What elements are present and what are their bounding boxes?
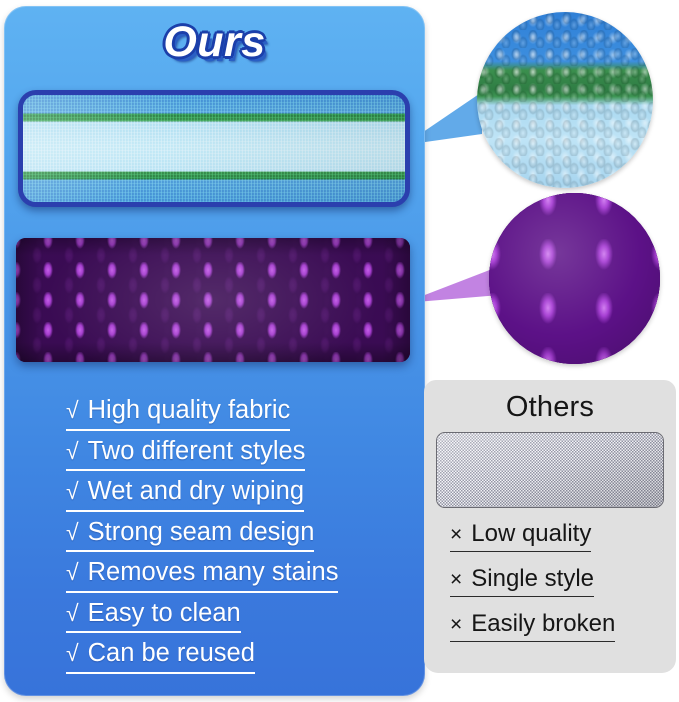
list-item: × Single style (450, 567, 594, 597)
purple-pad-shading (16, 238, 410, 362)
feature-label: Can be reused (88, 641, 255, 667)
others-panel: Others × Low quality × Single style × Ea… (424, 380, 676, 673)
feature-label: Removes many stains (88, 560, 339, 586)
check-icon: √ (66, 399, 79, 422)
check-icon: √ (66, 480, 79, 503)
comparison-infographic: Ours √ High quality fabric √ Two differe… (0, 0, 679, 702)
feature-label: Strong seam design (88, 520, 315, 546)
gray-pad-sheen (437, 433, 663, 507)
list-item: √ High quality fabric (66, 398, 290, 431)
list-item: √ Wet and dry wiping (66, 479, 304, 512)
ours-title: Ours (4, 18, 425, 67)
feature-label: Two different styles (88, 439, 306, 465)
purple-fabric-closeup-circle (489, 193, 660, 364)
blue-pad-sheen (23, 95, 405, 202)
blue-closeup-texture (477, 12, 653, 188)
feature-label: Easy to clean (88, 601, 241, 627)
purple-chenille-mop-pad-image (16, 238, 410, 362)
ours-panel: Ours √ High quality fabric √ Two differe… (4, 6, 425, 696)
check-icon: √ (66, 561, 79, 584)
check-icon: √ (66, 642, 79, 665)
feature-label: Wet and dry wiping (88, 479, 304, 505)
list-item: √ Easy to clean (66, 601, 241, 634)
cross-icon: × (450, 569, 462, 590)
others-title: Others (424, 391, 676, 424)
blue-microfiber-mop-pad-image (18, 90, 410, 207)
blue-fabric-closeup-circle (477, 12, 653, 188)
check-icon: √ (66, 602, 79, 625)
cross-icon: × (450, 524, 462, 545)
list-item: √ Two different styles (66, 439, 305, 472)
check-icon: √ (66, 521, 79, 544)
list-item: × Low quality (450, 522, 591, 552)
drawback-label: Low quality (471, 522, 591, 546)
gray-flat-mop-pad-image (436, 432, 664, 508)
others-drawback-list: × Low quality × Single style × Easily br… (450, 522, 665, 657)
list-item: √ Removes many stains (66, 560, 338, 593)
list-item: √ Strong seam design (66, 520, 314, 553)
check-icon: √ (66, 440, 79, 463)
list-item: √ Can be reused (66, 641, 255, 674)
purple-closeup-shading (489, 193, 660, 364)
list-item: × Easily broken (450, 612, 615, 642)
ours-feature-list: √ High quality fabric √ Two different st… (66, 398, 416, 682)
drawback-label: Easily broken (471, 612, 615, 636)
feature-label: High quality fabric (88, 398, 291, 424)
drawback-label: Single style (471, 567, 594, 591)
cross-icon: × (450, 614, 462, 635)
